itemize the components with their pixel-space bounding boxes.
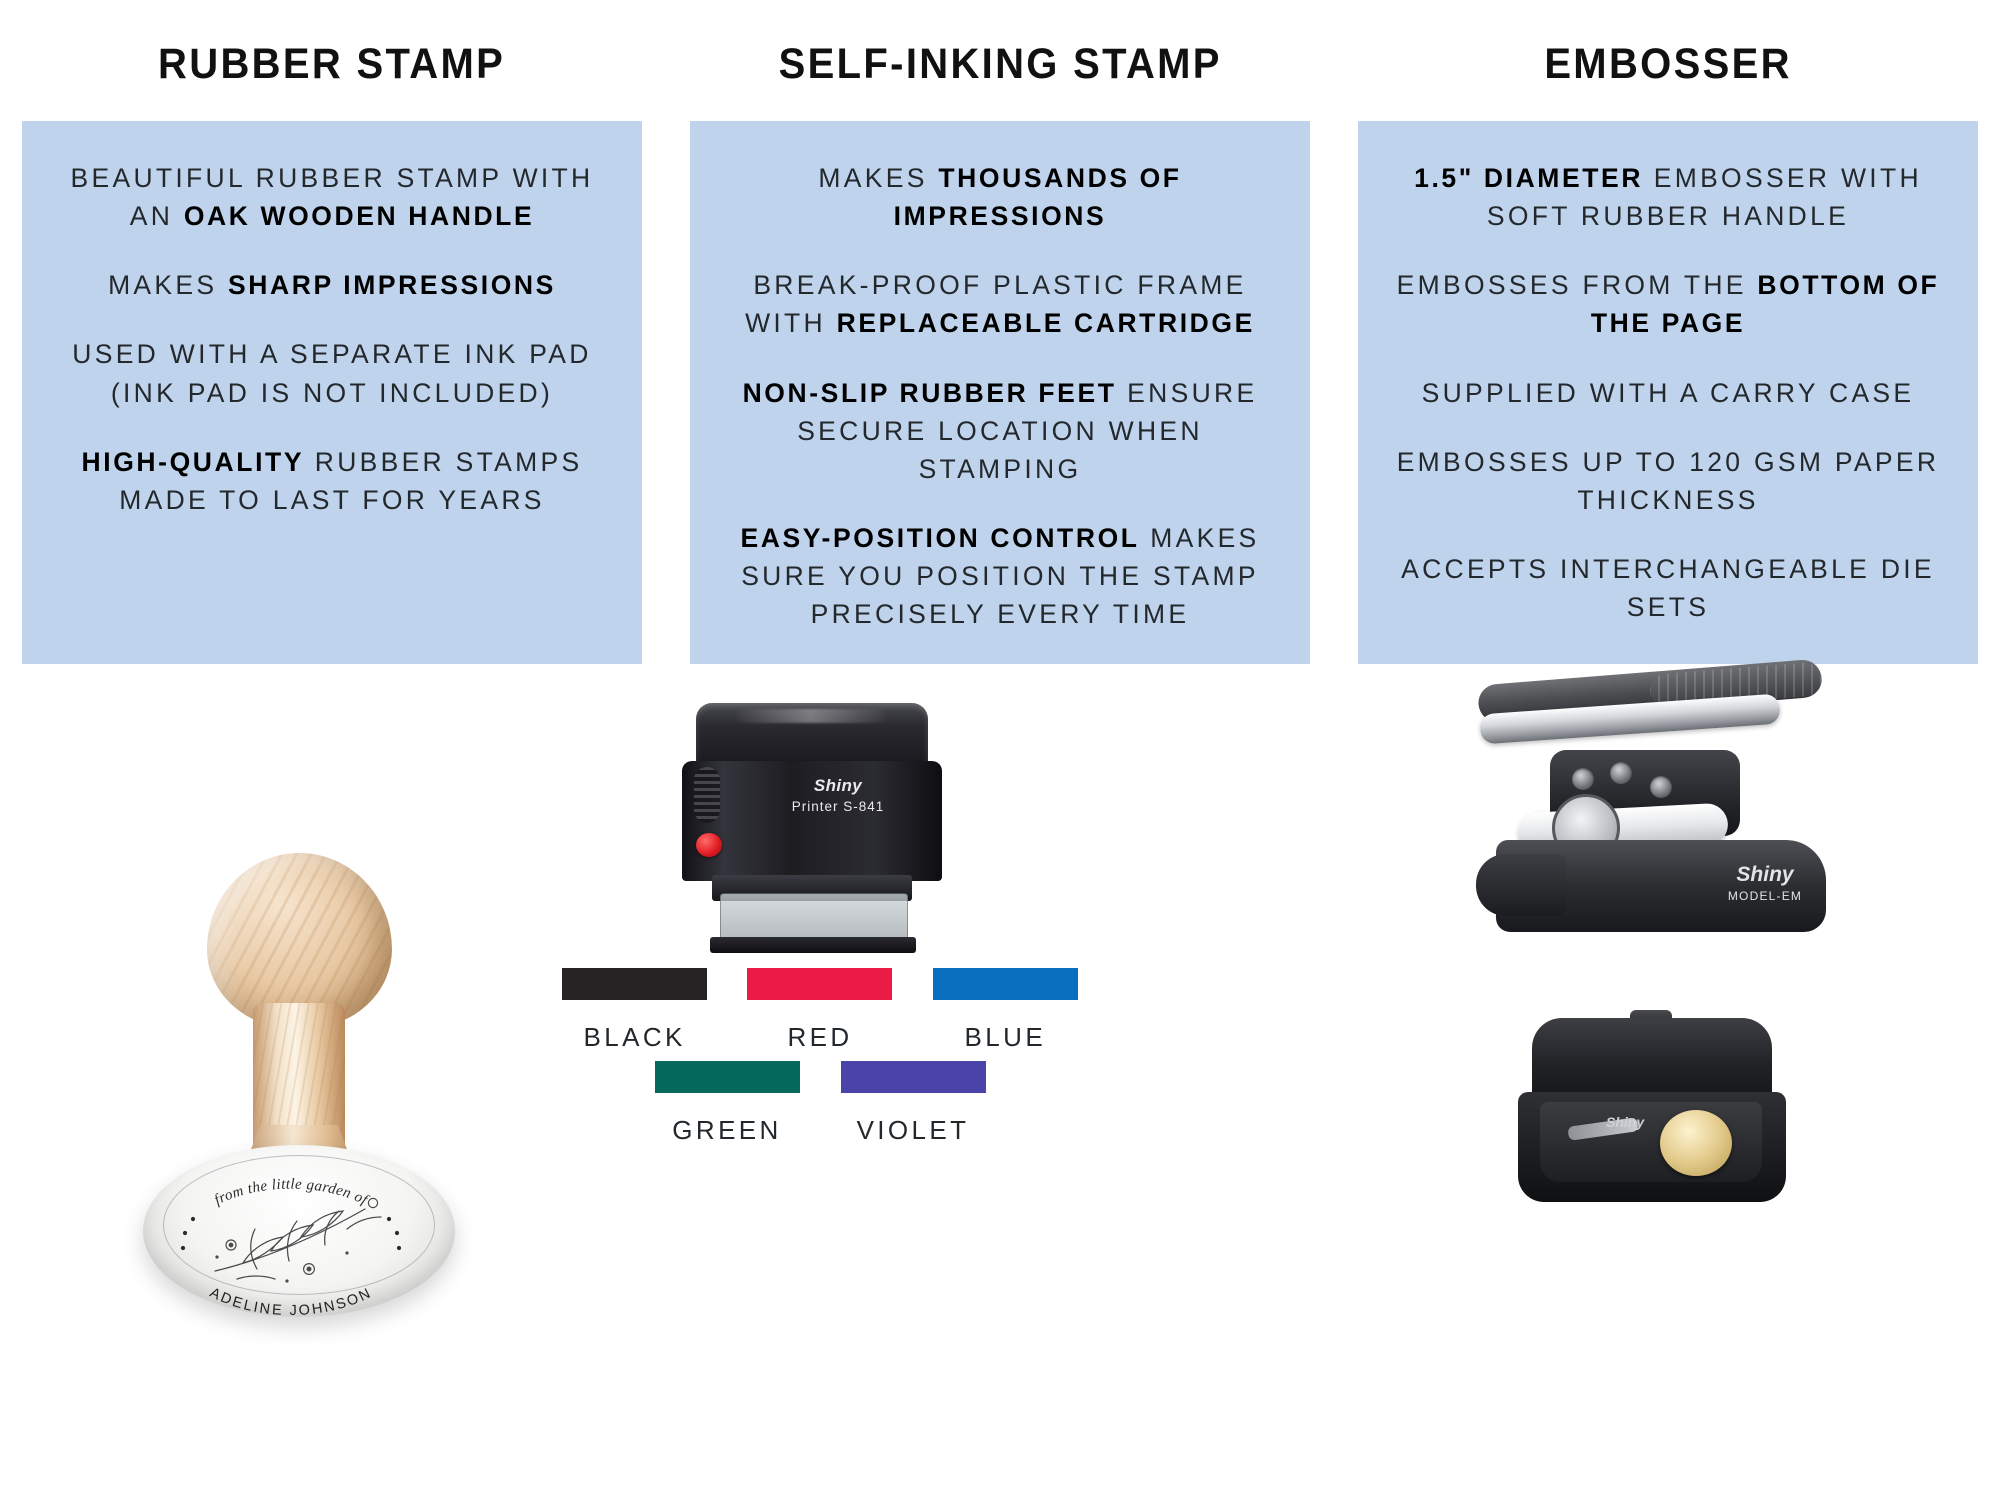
rubber-stamp-photo: from the little garden of ADELINE JOHNSO… [135, 853, 465, 1313]
swatch-item: BLACK [560, 968, 709, 1053]
feature-item: BREAK-PROOF PLASTIC FRAME WITH REPLACEAB… [716, 266, 1284, 342]
feature-text: SUPPLIED WITH A CARRY CASE [1422, 378, 1915, 408]
ink-colour-swatches: BLACK RED BLUE GREEN VIOLET [560, 968, 1080, 1146]
column-title-embosser: EMBOSSER [1544, 40, 1791, 89]
stamp-base-feet [710, 937, 916, 953]
swatch-chip-black [562, 968, 707, 1000]
feature-emphasis: NON-SLIP RUBBER FEET [743, 378, 1117, 408]
swatch-chip-red [747, 968, 892, 1000]
embosser-carry-case: Shiny [1510, 1018, 1790, 1228]
feature-emphasis: EASY-POSITION CONTROL [740, 523, 1139, 553]
stamp-brand-label: Shiny [768, 777, 908, 794]
feature-text: MAKES [108, 270, 228, 300]
stamp-branding: Shiny Printer S-841 [768, 777, 908, 823]
feature-item: USED WITH A SEPARATE INK PAD (INK PAD IS… [48, 335, 616, 411]
feature-item: HIGH-QUALITY RUBBER STAMPS MADE TO LAST … [48, 443, 616, 519]
embosser-model-label: MODEL-EM [1700, 890, 1830, 902]
wooden-knob [207, 853, 392, 1028]
self-inking-stamp-photo: Shiny Printer S-841 [672, 703, 952, 963]
feature-item: MAKES SHARP IMPRESSIONS [108, 266, 556, 304]
feature-item: EMBOSSES UP TO 120 GSM PAPER THICKNESS [1384, 443, 1952, 519]
press-top-highlight [736, 709, 886, 723]
feature-panel-embosser: 1.5" DIAMETER EMBOSSER WITH SOFT RUBBER … [1358, 121, 1978, 664]
feature-item: NON-SLIP RUBBER FEET ENSURE SECURE LOCAT… [716, 374, 1284, 488]
embosser-branding: Shiny MODEL-EM [1700, 864, 1830, 902]
case-die-set [1660, 1110, 1732, 1176]
comparison-infographic: RUBBER STAMP BEAUTIFUL RUBBER STAMP WITH… [0, 0, 2000, 1500]
swatch-row-secondary: GREEN VIOLET [560, 1061, 1080, 1146]
swatch-chip-blue [933, 968, 1078, 1000]
feature-item: MAKES THOUSANDS OF IMPRESSIONS [716, 159, 1284, 235]
feature-emphasis: REPLACEABLE CARTRIDGE [837, 308, 1255, 338]
feature-text: MAKES [818, 163, 938, 193]
case-brand-label: Shiny [1606, 1114, 1644, 1130]
feature-item: EASY-POSITION CONTROL MAKES SURE YOU POS… [716, 519, 1284, 633]
feature-text: EMBOSSES UP TO 120 GSM PAPER THICKNESS [1397, 447, 1940, 515]
case-lid [1532, 1018, 1772, 1100]
product-columns: RUBBER STAMP BEAUTIFUL RUBBER STAMP WITH… [0, 0, 2000, 664]
swatch-item: BLUE [931, 968, 1080, 1053]
swatch-label: GREEN [672, 1115, 781, 1146]
feature-emphasis: SHARP IMPRESSIONS [228, 270, 556, 300]
embosser-nose [1476, 854, 1566, 916]
feature-emphasis: OAK WOODEN HANDLE [184, 201, 534, 231]
embosser-pivot-hole [1650, 776, 1672, 798]
feature-item: EMBOSSES FROM THE BOTTOM OF THE PAGE [1384, 266, 1952, 342]
embosser-pivot-hole [1610, 762, 1632, 784]
product-images: from the little garden of ADELINE JOHNSO… [0, 648, 2000, 1500]
column-title-rubber-stamp: RUBBER STAMP [158, 40, 505, 89]
column-self-inking-stamp: SELF-INKING STAMP MAKES THOUSANDS OF IMP… [690, 0, 1310, 664]
column-title-self-inking-stamp: SELF-INKING STAMP [778, 40, 1221, 89]
stamp-side-grip [694, 767, 720, 823]
feature-item: BEAUTIFUL RUBBER STAMP WITH AN OAK WOODE… [48, 159, 616, 235]
feature-text: ACCEPTS INTERCHANGEABLE DIE SETS [1401, 554, 1935, 622]
stamp-model-label: Printer S-841 [768, 800, 908, 814]
swatch-row-primary: BLACK RED BLUE [560, 968, 1080, 1053]
swatch-label: VIOLET [857, 1115, 970, 1146]
swatch-label: BLACK [584, 1022, 686, 1053]
feature-emphasis: HIGH-QUALITY [82, 447, 305, 477]
feature-panel-rubber-stamp: BEAUTIFUL RUBBER STAMP WITH AN OAK WOODE… [22, 121, 642, 664]
swatch-item: GREEN [652, 1061, 802, 1146]
column-embosser: EMBOSSER 1.5" DIAMETER EMBOSSER WITH SOF… [1358, 0, 1978, 664]
column-rubber-stamp: RUBBER STAMP BEAUTIFUL RUBBER STAMP WITH… [22, 0, 642, 664]
swatch-label: BLUE [965, 1022, 1047, 1053]
stamp-press-top [696, 703, 928, 769]
feature-item: 1.5" DIAMETER EMBOSSER WITH SOFT RUBBER … [1384, 159, 1952, 235]
feature-item: ACCEPTS INTERCHANGEABLE DIE SETS [1384, 550, 1952, 626]
feature-item: SUPPLIED WITH A CARRY CASE [1422, 374, 1915, 412]
feature-panel-self-inking-stamp: MAKES THOUSANDS OF IMPRESSIONS BREAK-PRO… [690, 121, 1310, 664]
swatch-chip-violet [841, 1061, 986, 1093]
feature-emphasis: 1.5" DIAMETER [1414, 163, 1643, 193]
swatch-chip-green [655, 1061, 800, 1093]
feature-text: USED WITH A SEPARATE INK PAD (INK PAD IS… [72, 339, 591, 407]
swatch-label: RED [787, 1022, 852, 1053]
embosser-brand-label: Shiny [1700, 864, 1830, 885]
feature-text: EMBOSSES FROM THE [1397, 270, 1758, 300]
svg-text:ADELINE JOHNSON: ADELINE JOHNSON [207, 1285, 375, 1317]
swatch-item: RED [745, 968, 894, 1053]
embosser-photo: Shiny MODEL-EM [1400, 658, 1860, 988]
embosser-pivot-hole [1572, 768, 1594, 790]
botanical-illustration [197, 1183, 397, 1288]
stamp-index-button [696, 833, 722, 857]
swatch-item: VIOLET [838, 1061, 988, 1146]
